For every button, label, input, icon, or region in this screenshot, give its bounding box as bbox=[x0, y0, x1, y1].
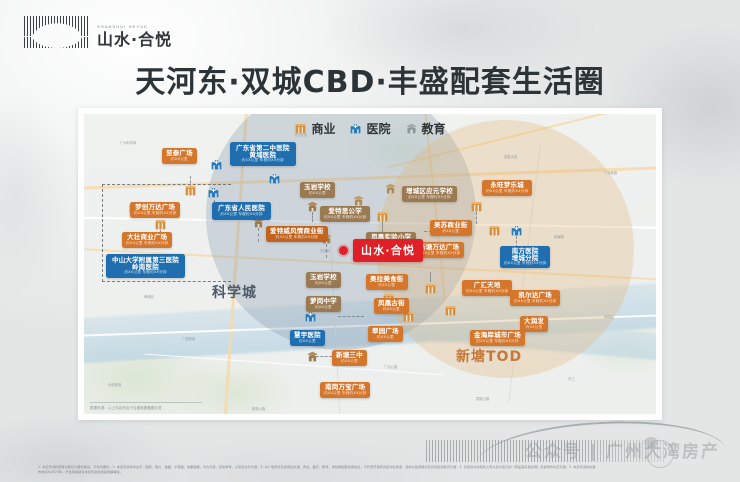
legend-label-hospital: 医院 bbox=[366, 120, 390, 137]
poi-name: 增城区应元学校 bbox=[406, 188, 453, 195]
poi-name: 至泰广场 bbox=[166, 150, 193, 157]
poi-name: 凯尔达广场 bbox=[514, 292, 556, 299]
education-icon bbox=[405, 122, 418, 135]
poi-sub: 约XX公里 车程约XX分钟 bbox=[418, 252, 460, 256]
commercial-marker-icon[interactable] bbox=[376, 210, 389, 223]
map-frame[interactable]: 广州科学城 开创大道 香雪大道 新塘镇 广园快速 广汕公路 黄埔区 增城区 永和… bbox=[78, 108, 662, 420]
map-text: 广园快速 bbox=[182, 336, 195, 341]
commercial-marker-icon[interactable] bbox=[424, 282, 437, 295]
poi-label[interactable]: 翠园广场 约XX公里 bbox=[368, 326, 403, 342]
hospital-marker-icon[interactable] bbox=[304, 310, 317, 323]
poi-sub: 约XX公里 bbox=[378, 308, 405, 312]
poi-chip: 广东省第二中医院 黄埔医院 约XX公里 车程约XX分钟 bbox=[230, 142, 296, 166]
watermark-text: 公众号 | 广州大湾房产 bbox=[525, 437, 720, 462]
poi-chip: 中山大学附属第三医院 岭南医院 约XX公里 车程约XX分钟 bbox=[106, 254, 185, 278]
map-text: 黄埔区 bbox=[144, 294, 154, 299]
map-text: 广州科学城 bbox=[120, 140, 136, 145]
poi-chip: 凯尔达广场 约XX公里 车程约XX分钟 bbox=[510, 290, 560, 306]
map-connector bbox=[382, 222, 383, 232]
poi-chip: 南方医院 增城分院 约XX公里 车程约XX分钟 bbox=[500, 246, 550, 268]
poi-sub: 约XX公里 车程约XX分钟 bbox=[406, 196, 453, 200]
map-text: 广汕公路 bbox=[384, 364, 397, 369]
poi-name: 玉岩学校 bbox=[310, 274, 337, 281]
brand-logo-en: SHANSHUI HEYUE bbox=[97, 25, 172, 29]
commercial-icon bbox=[294, 122, 307, 135]
poi-label[interactable]: 慧宇医院 约XX公里 bbox=[290, 330, 325, 346]
poi-sub: 约XX公里 bbox=[336, 360, 363, 364]
brand-logo-text: SHANSHUI HEYUE 山水·合悦 bbox=[97, 25, 172, 48]
map-text: 增城区 bbox=[604, 314, 614, 319]
poi-name: 吴苏商业街 bbox=[434, 222, 468, 229]
poi-chip: 玉岩学校 约XX公里 bbox=[300, 182, 335, 198]
poi-name: 玉岩学校 bbox=[304, 184, 331, 191]
subject-marker[interactable]: 山水·合悦 bbox=[339, 239, 423, 262]
poi-label[interactable]: 奥拉美食街 约XX公里 bbox=[366, 274, 408, 290]
poi-chip: 爱特思公学 约XX公里 车程约XX分钟 bbox=[320, 206, 370, 222]
poi-name: 翠园广场 bbox=[372, 328, 399, 335]
poi-chip: 萝岗中学 约XX公里 bbox=[306, 296, 341, 312]
map-text: 凤凰城 bbox=[320, 248, 330, 253]
district-label-science-city: 科学城 bbox=[212, 282, 257, 302]
commercial-marker-icon[interactable] bbox=[444, 304, 457, 317]
poi-sub: 约XX公里 车程约XX分钟 bbox=[466, 290, 508, 294]
poi-label[interactable]: 新塘三中 约XX公里 bbox=[332, 350, 367, 366]
education-marker-icon[interactable] bbox=[306, 350, 319, 363]
poi-name: 爱特威风情商业街 bbox=[270, 228, 324, 235]
poi-sub: 约XX公里 车程约XX分钟 bbox=[486, 190, 528, 194]
poi-name: 永旺梦乐城 bbox=[486, 182, 528, 189]
poi-chip: 翠园广场 约XX公里 bbox=[368, 326, 403, 342]
poi-sub: 约XX公里 bbox=[166, 158, 193, 162]
subject-label: 山水·合悦 bbox=[353, 239, 423, 262]
poi-name: 慧宇医院 bbox=[294, 332, 321, 339]
legend-item-education: 教育 bbox=[405, 120, 446, 137]
poi-label[interactable]: 广汇天地 约XX公里 车程约XX分钟 bbox=[462, 280, 512, 296]
poi-name: 南岗万宝广场 bbox=[324, 384, 366, 391]
map-connector bbox=[258, 228, 259, 242]
poi-label[interactable]: 永旺梦乐城 约XX公里 车程约XX分钟 bbox=[482, 180, 532, 196]
poi-label[interactable]: 南岗万宝广场 约XX公里 车程约XX分钟 bbox=[320, 382, 370, 398]
poi-sub: 约XX公里 车程约XX分钟 bbox=[126, 242, 168, 246]
poi-sub: 约XX公里 车程约XX分钟 bbox=[112, 271, 179, 275]
brand-logo-cn: 山水·合悦 bbox=[97, 32, 172, 48]
poi-sub: 约XX公里 车程约XX分钟 bbox=[324, 392, 366, 396]
poi-label[interactable]: 大壮商业广场 约XX公里 车程约XX分钟 bbox=[122, 232, 172, 248]
hospital-marker-icon[interactable] bbox=[510, 224, 523, 237]
map-connector bbox=[430, 272, 431, 282]
poi-name: 新塘三中 bbox=[336, 352, 363, 359]
poi-name: 梦创万达广场 bbox=[134, 204, 176, 211]
poi-sub: 约XX公里 bbox=[310, 306, 337, 310]
legend-label-commercial: 商业 bbox=[311, 120, 335, 137]
poi-name: 广东省人民医院 bbox=[218, 205, 265, 212]
hospital-marker-icon[interactable] bbox=[268, 172, 281, 185]
poi-chip: 大壮商业广场 约XX公里 车程约XX分钟 bbox=[122, 232, 172, 248]
poi-name: 奥拉美食街 bbox=[370, 276, 404, 283]
poi-chip: 增城区应元学校 约XX公里 车程约XX分钟 bbox=[402, 186, 457, 202]
poi-name: 金海岸城市广场 bbox=[474, 332, 521, 339]
poi-chip: 永旺梦乐城 约XX公里 车程约XX分钟 bbox=[482, 180, 532, 196]
legal-disclaimer: 1. 本宣传资料所有内容仅为要约邀请，不作为要约；2. 本宣传资料中文字、图表、… bbox=[38, 465, 598, 476]
commercial-marker-icon[interactable] bbox=[184, 184, 197, 197]
poi-sub: 约XX公里 bbox=[294, 340, 321, 344]
poi-label[interactable]: 中山大学附属第三医院 岭南医院 约XX公里 车程约XX分钟 bbox=[106, 254, 185, 278]
poi-label[interactable]: 广东省人民医院 约XX公里 车程约XX分钟 bbox=[212, 202, 271, 220]
poi-label[interactable]: 至泰广场 约XX公里 bbox=[162, 148, 197, 164]
commercial-marker-icon[interactable] bbox=[154, 218, 167, 231]
legend-item-hospital: 医院 bbox=[349, 120, 390, 137]
poi-chip: 凤凰古街 约XX公里 bbox=[374, 298, 409, 314]
map-connector bbox=[312, 212, 313, 222]
map-legend: 商业 医院 教育 bbox=[0, 120, 740, 137]
poi-label[interactable]: 广东省第二中医院 黄埔医院 约XX公里 车程约XX分钟 bbox=[230, 142, 296, 166]
legend-label-education: 教育 bbox=[422, 120, 446, 137]
poi-sub: 约XX公里 bbox=[370, 284, 404, 288]
map-text: 新新公路 bbox=[252, 406, 265, 411]
poi-name: 大壮商业广场 bbox=[126, 234, 168, 241]
map-connector bbox=[338, 316, 364, 317]
poi-label[interactable]: 金海岸城市广场 约XX公里 车程约XX分钟 bbox=[470, 330, 525, 346]
poi-label[interactable]: 凯尔达广场 约XX公里 车程约XX分钟 bbox=[510, 290, 560, 306]
poi-label[interactable]: 爱特威风情商业街 约XX公里 车程约XX分钟 bbox=[266, 226, 328, 242]
poi-chip: 金海岸城市广场 约XX公里 车程约XX分钟 bbox=[470, 330, 525, 346]
poi-sub: 约XX公里 车程约XX分钟 bbox=[270, 236, 324, 240]
map-connector bbox=[326, 244, 327, 258]
poi-label[interactable]: 吴苏商业街 约XX公里 bbox=[430, 220, 472, 236]
map-text: 新塘镇 bbox=[554, 234, 564, 239]
poi-sub: 约XX公里 bbox=[310, 282, 337, 286]
poi-name: 凤凰古街 bbox=[378, 300, 405, 307]
map-caption: 数据来源：以上内容来自于百度地图截图示意 bbox=[90, 402, 202, 410]
poi-sub: 约XX公里 bbox=[524, 326, 544, 330]
hospital-marker-icon[interactable] bbox=[210, 158, 223, 171]
poi-chip: 新塘三中 约XX公里 bbox=[332, 350, 367, 366]
barcode-mark-icon bbox=[24, 16, 90, 48]
subject-dot-icon bbox=[339, 246, 348, 255]
page-title: 天河东·双城CBD·丰盛配套生活圈 bbox=[0, 57, 740, 101]
poi-sub: 约XX公里 车程约XX分钟 bbox=[514, 300, 556, 304]
district-label-xintang-tod: 新塘TOD bbox=[456, 346, 522, 366]
poi-label[interactable]: 梦创万达广场 约XX公里 车程约XX分钟 bbox=[130, 202, 180, 218]
poi-label[interactable]: 玉岩学校 约XX公里 bbox=[300, 182, 335, 198]
map-text: 永和街道 bbox=[108, 382, 121, 387]
poi-sub: 约XX公里 bbox=[434, 230, 468, 234]
poi-label[interactable]: 凤凰古街 约XX公里 bbox=[374, 298, 409, 314]
poi-label[interactable]: 萝岗中学 约XX公里 bbox=[306, 296, 341, 312]
poi-sub: 约XX公里 车程约XX分钟 bbox=[236, 159, 290, 163]
map-caption-text: 数据来源：以上内容来自于百度地图截图示意 bbox=[90, 406, 162, 410]
poi-chip: 爱特威风情商业街 约XX公里 车程约XX分钟 bbox=[266, 226, 328, 242]
hospital-marker-icon[interactable] bbox=[207, 186, 220, 199]
poi-name: 萝岗中学 bbox=[310, 298, 337, 305]
hospital-icon bbox=[349, 122, 362, 135]
poi-sub: 约XX公里 车程约XX分钟 bbox=[474, 340, 521, 344]
poi-sub: 约XX公里 车程约XX分钟 bbox=[134, 212, 176, 216]
watermark: 公众号 | 广州大湾房产 bbox=[426, 424, 726, 468]
poi-chip: 奥拉美食街 约XX公里 bbox=[366, 274, 408, 290]
poi-chip: 广汇天地 约XX公里 车程约XX分钟 bbox=[462, 280, 512, 296]
poi-label[interactable]: 爱特思公学 约XX公里 车程约XX分钟 bbox=[320, 206, 370, 222]
commercial-marker-icon[interactable] bbox=[470, 200, 483, 213]
poi-chip: 慧宇医院 约XX公里 bbox=[290, 330, 325, 346]
poi-name: 爱特思公学 bbox=[324, 208, 366, 215]
map-connector bbox=[476, 212, 477, 224]
legend-item-commercial: 商业 bbox=[294, 120, 335, 137]
poi-sub: 约XX公里 车程约XX分钟 bbox=[218, 213, 265, 217]
poi-chip: 吴苏商业街 约XX公里 bbox=[430, 220, 472, 236]
education-marker-icon[interactable] bbox=[384, 182, 397, 195]
map-text: 东江 bbox=[568, 376, 575, 381]
footer: 公众号 | 广州大湾房产 1. 本宣传资料所有内容仅为要约邀请，不作为要约；2.… bbox=[0, 430, 740, 482]
poi-chip: 南岗万宝广场 约XX公里 车程约XX分钟 bbox=[320, 382, 370, 398]
poi-label[interactable]: 玉岩学校 约XX公里 bbox=[306, 272, 341, 288]
poi-sub: 约XX公里 车程约XX分钟 bbox=[324, 216, 366, 220]
map-text: 广深铁路 bbox=[604, 170, 617, 175]
poster-page: SHANSHUI HEYUE 山水·合悦 天河东·双城CBD·丰盛配套生活圈 商… bbox=[0, 0, 740, 482]
poi-chip: 玉岩学校 约XX公里 bbox=[306, 272, 341, 288]
map-text: 香雪大道 bbox=[504, 154, 517, 159]
poi-sub: 约XX公里 bbox=[304, 192, 331, 196]
poi-sub: 约XX公里 车程约XX分钟 bbox=[504, 262, 546, 266]
brand-logo: SHANSHUI HEYUE 山水·合悦 bbox=[24, 16, 172, 48]
poi-name: 新塘万达广场 bbox=[418, 244, 460, 251]
poi-name: 广汇天地 bbox=[466, 282, 508, 289]
poi-name: 大润发 bbox=[524, 318, 544, 325]
location-map[interactable]: 广州科学城 开创大道 香雪大道 新塘镇 广园快速 广汕公路 黄埔区 增城区 永和… bbox=[84, 114, 656, 414]
poi-sub: 约XX公里 bbox=[372, 336, 399, 340]
poi-label[interactable]: 南方医院 增城分院 约XX公里 车程约XX分钟 bbox=[500, 246, 550, 268]
poi-chip: 广东省人民医院 约XX公里 车程约XX分钟 bbox=[212, 202, 271, 220]
poi-chip: 梦创万达广场 约XX公里 车程约XX分钟 bbox=[130, 202, 180, 218]
education-marker-icon[interactable] bbox=[306, 200, 319, 213]
commercial-marker-icon[interactable] bbox=[488, 224, 501, 237]
poi-chip: 至泰广场 约XX公里 bbox=[162, 148, 197, 164]
map-text: 荔新公路 bbox=[476, 396, 489, 401]
poi-label[interactable]: 增城区应元学校 约XX公里 车程约XX分钟 bbox=[402, 186, 457, 202]
